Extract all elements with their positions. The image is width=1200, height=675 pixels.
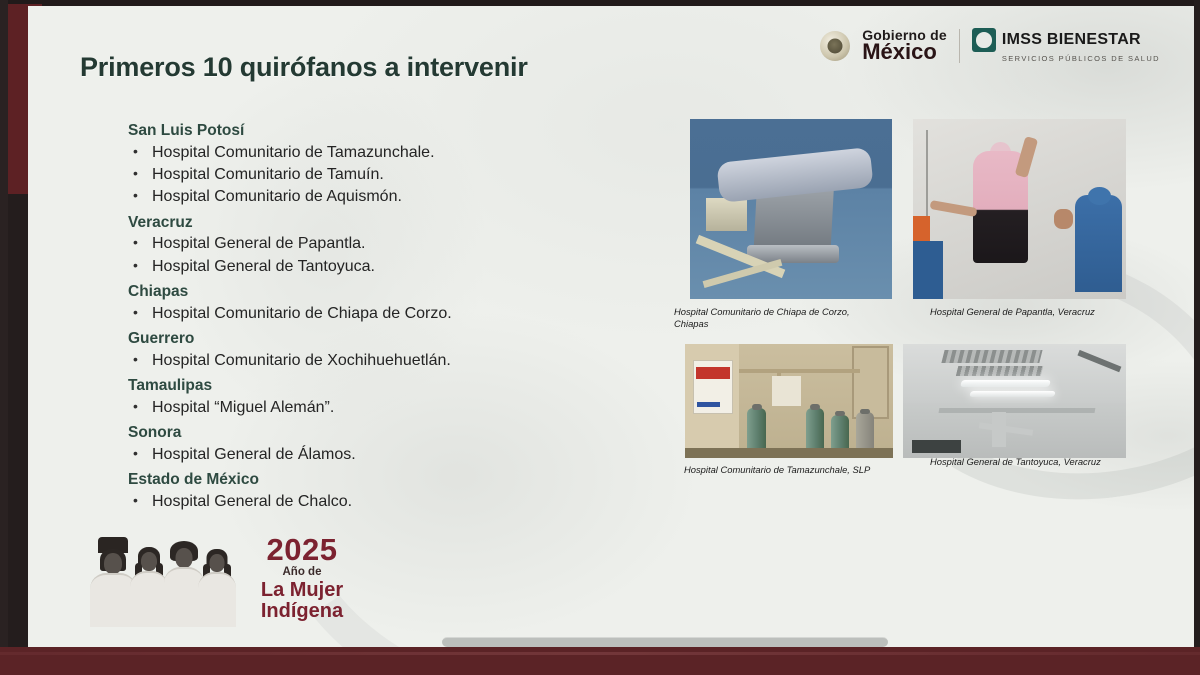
list-item-label: Hospital Comunitario de Aquismón. (152, 186, 402, 207)
bullet-icon: • (133, 303, 143, 322)
bullet-icon: • (133, 350, 143, 369)
wall-repair-photo (913, 119, 1126, 299)
state-heading-san-luis-potosi: San Luis Potosí (128, 121, 648, 141)
imss-eagle-mark-icon (972, 28, 996, 52)
list-item: • Hospital Comunitario de Aquismón. (133, 186, 648, 207)
list-item: • Hospital General de Papantla. (133, 233, 648, 254)
bullet-icon: • (133, 397, 143, 416)
state-heading-estado-de-mexico: Estado de México (128, 470, 648, 490)
gobierno-de-mexico-wordmark: Gobierno de México (862, 28, 947, 63)
imss-subtitle: SERVICIOS PÚBLICOS DE SALUD (1002, 55, 1160, 63)
state-heading-veracruz: Veracruz (128, 213, 648, 233)
photo-caption: Hospital General de Tantoyuca, Veracruz (930, 456, 1135, 468)
slide-canvas: Gobierno de México IMSS BIENESTAR SERVIC… (28, 6, 1194, 647)
government-branding: Gobierno de México IMSS BIENESTAR SERVIC… (820, 28, 1160, 63)
list-item: • Hospital Comunitario de Tamuín. (133, 164, 648, 185)
gas-cylinders-photo (685, 344, 893, 458)
list-item-label: Hospital Comunitario de Tamuín. (152, 164, 384, 185)
imss-bienestar-logo: IMSS BIENESTAR SERVICIOS PÚBLICOS DE SAL… (972, 28, 1160, 63)
list-item-label: Hospital Comunitario de Chiapa de Corzo. (152, 303, 452, 324)
bullet-icon: • (133, 444, 143, 463)
imss-name: IMSS BIENESTAR (1002, 32, 1141, 48)
logo-line1: La Mujer (246, 580, 358, 600)
logo-line2: Indígena (246, 601, 358, 621)
list-item: • Hospital Comunitario de Tamazunchale. (133, 142, 648, 163)
list-item-label: Hospital Comunitario de Xochihuehuetlán. (152, 350, 451, 371)
list-item-label: Hospital “Miguel Alemán”. (152, 397, 334, 418)
list-item-label: Hospital Comunitario de Tamazunchale. (152, 142, 435, 163)
bullet-icon: • (133, 233, 143, 252)
bullet-icon: • (133, 164, 143, 183)
list-item-label: Hospital General de Papantla. (152, 233, 365, 254)
indigenous-women-illustration-icon (88, 527, 240, 625)
list-item: • Hospital General de Chalco. (133, 491, 648, 512)
footer-sheen (0, 652, 1200, 655)
state-heading-guerrero: Guerrero (128, 329, 648, 349)
list-item-label: Hospital General de Tantoyuca. (152, 256, 375, 277)
year-2025-wordmark: 2025 Año de La Mujer Indígena (246, 534, 358, 622)
photo-caption: Hospital General de Papantla, Veracruz (930, 306, 1135, 318)
year-2025-logo: 2025 Año de La Mujer Indígena (88, 525, 358, 625)
list-item: • Hospital Comunitario de Chiapa de Corz… (133, 303, 648, 324)
hospital-list: San Luis Potosí • Hospital Comunitario d… (128, 116, 648, 513)
gobierno-line2: México (862, 41, 947, 63)
logo-year: 2025 (246, 534, 358, 565)
operating-table-photo (690, 119, 892, 299)
state-heading-tamaulipas: Tamaulipas (128, 376, 648, 396)
list-item: • Hospital General de Tantoyuca. (133, 256, 648, 277)
logo-divider (959, 29, 960, 63)
list-item-label: Hospital General de Álamos. (152, 444, 356, 465)
photo-caption: Hospital Comunitario de Chiapa de Corzo,… (674, 306, 884, 331)
state-heading-sonora: Sonora (128, 423, 648, 443)
bullet-icon: • (133, 491, 143, 510)
list-item-label: Hospital General de Chalco. (152, 491, 352, 512)
logo-anio-de: Año de (246, 567, 358, 579)
list-item: • Hospital General de Álamos. (133, 444, 648, 465)
photo-caption: Hospital Comunitario de Tamazunchale, SL… (684, 464, 914, 476)
mexican-eagle-seal-icon (820, 31, 850, 61)
bullet-icon: • (133, 186, 143, 205)
slide-title: Primeros 10 quirófanos a intervenir (80, 52, 528, 83)
presentation-stage: Gobierno de México IMSS BIENESTAR SERVIC… (0, 0, 1200, 675)
list-item: • Hospital “Miguel Alemán”. (133, 397, 648, 418)
bullet-icon: • (133, 256, 143, 275)
operating-room-ceiling-photo (903, 344, 1126, 458)
bullet-icon: • (133, 142, 143, 161)
window-frame-left (0, 0, 8, 675)
state-heading-chiapas: Chiapas (128, 282, 648, 302)
window-frame-right (1194, 0, 1200, 675)
list-item: • Hospital Comunitario de Xochihuehuetlá… (133, 350, 648, 371)
